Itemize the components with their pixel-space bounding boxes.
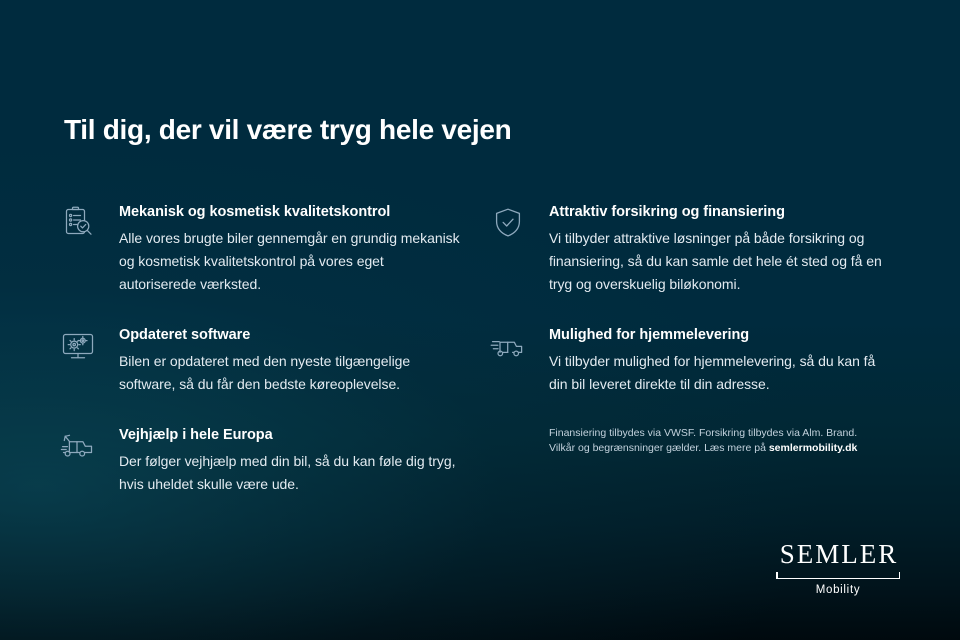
delivery-truck-icon (490, 328, 526, 364)
disclaimer-line-1: Finansiering tilbydes via VWSF. Forsikri… (549, 427, 857, 439)
feature-description: Vi tilbyder attraktive løsninger på både… (549, 227, 890, 296)
feature-title: Attraktiv forsikring og finansiering (549, 203, 890, 222)
feature-description: Der følger vejhjælp med din bil, så du k… (119, 450, 460, 496)
logo-rule-tick-right (899, 572, 901, 579)
feature-insurance-financing: Attraktiv forsikring og finansiering Vi … (486, 203, 890, 296)
shield-check-icon (490, 205, 526, 241)
logo-divider-rule (776, 572, 900, 579)
feature-roadside-assistance: Vejhjælp i hele Europa Der følger vejhjæ… (56, 426, 460, 496)
page-title: Til dig, der vil være tryg hele vejen (64, 113, 511, 147)
right-column: Attraktiv forsikring og finansiering Vi … (486, 203, 890, 456)
clipboard-magnifier-check-icon (60, 205, 96, 241)
disclaimer-text: Finansiering tilbydes via VWSF. Forsikri… (486, 426, 890, 456)
semler-mobility-logo: SEMLER Mobility (774, 539, 902, 598)
logo-rule-bar (776, 578, 900, 580)
feature-updated-software: Opdateret software Bilen er opdateret me… (56, 326, 460, 396)
logo-wordmark: SEMLER (774, 539, 902, 569)
feature-title: Mekanisk og kosmetisk kvalitetskontrol (119, 203, 460, 222)
tow-truck-icon (60, 428, 96, 464)
logo-subtitle: Mobility (774, 583, 902, 598)
monitor-gears-icon (60, 328, 96, 364)
left-column: Mekanisk og kosmetisk kvalitetskontrol A… (56, 203, 460, 526)
slide-root: Til dig, der vil være tryg hele vejen (0, 0, 960, 640)
feature-title: Mulighed for hjemmelevering (549, 326, 890, 345)
feature-description: Bilen er opdateret med den nyeste tilgæn… (119, 350, 460, 396)
feature-title: Vejhjælp i hele Europa (119, 426, 460, 445)
feature-quality-control: Mekanisk og kosmetisk kvalitetskontrol A… (56, 203, 460, 296)
feature-title: Opdateret software (119, 326, 460, 345)
feature-description: Vi tilbyder mulighed for hjemmelevering,… (549, 350, 890, 396)
feature-description: Alle vores brugte biler gennemgår en gru… (119, 227, 460, 296)
feature-home-delivery: Mulighed for hjemmelevering Vi tilbyder … (486, 326, 890, 396)
semlermobility-link[interactable]: semlermobility.dk (769, 442, 858, 454)
disclaimer-line-2-prefix: Vilkår og begrænsninger gælder. Læs mere… (549, 442, 769, 454)
